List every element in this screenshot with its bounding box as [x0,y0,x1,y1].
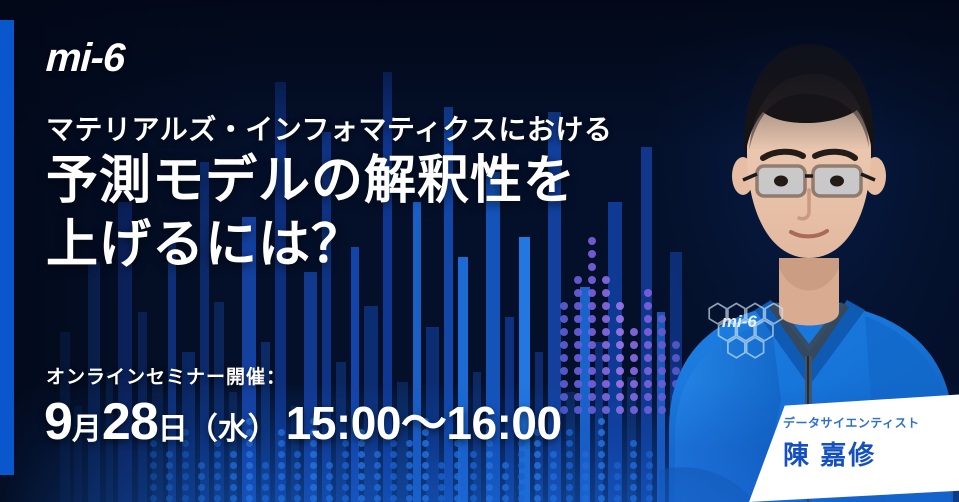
decor-dot-column [326,452,340,502]
event-day: 28 [102,396,158,448]
headline-block: マテリアルズ・インフォマティクスにおける 予測モデルの解釈性を 上げるには？ [46,112,612,276]
presenter-role: データサイエンティスト [783,414,951,431]
decor-dot-column [566,424,580,502]
decor-dot-column [470,440,484,502]
decor-dot-column [438,448,452,502]
decor-dot-column [262,450,276,502]
decor-dot-column [502,454,516,502]
decor-dot-column [198,456,212,502]
seminar-label: オンラインセミナー開催： [46,362,286,389]
mi6-logo: mi-6 [45,36,126,81]
decor-dot-column [230,442,244,502]
decor-dot-column [166,444,180,502]
decor-dot-column [550,446,564,502]
event-weekday: （水） [188,415,278,445]
event-month: 9 [44,396,72,448]
event-time: 15:00〜16:00 [286,400,562,446]
decor-dot-column [598,410,612,502]
nameplate-text: データサイエンティスト 陳 嘉修 [783,414,951,472]
event-day-unit: 日 [158,415,188,445]
presenter-name: 陳 嘉修 [783,435,951,472]
event-month-unit: 月 [72,415,102,445]
decor-dot-column [374,444,388,502]
decor-dot-column [582,438,596,502]
presenter-nameplate: データサイエンティスト 陳 嘉修 [749,390,959,502]
decor-dot-column [614,452,628,502]
headline-subline: マテリアルズ・インフォマティクスにおける [46,112,612,147]
headline-line-1: 予測モデルの解釈性を [46,151,612,211]
headline-line-2: 上げるには？ [46,215,612,275]
decor-dot-column [646,442,660,502]
svg-text:mi-6: mi-6 [722,312,758,331]
webinar-banner: mi-6 mi-6 マテリアルズ・インフォマティクスにおける 予測モデルの解釈性… [0,0,959,502]
event-datetime: 9 月 28 日 （水） 15:00〜16:00 [44,396,562,448]
left-accent-bar [0,20,14,475]
decor-dot-column [630,428,644,502]
